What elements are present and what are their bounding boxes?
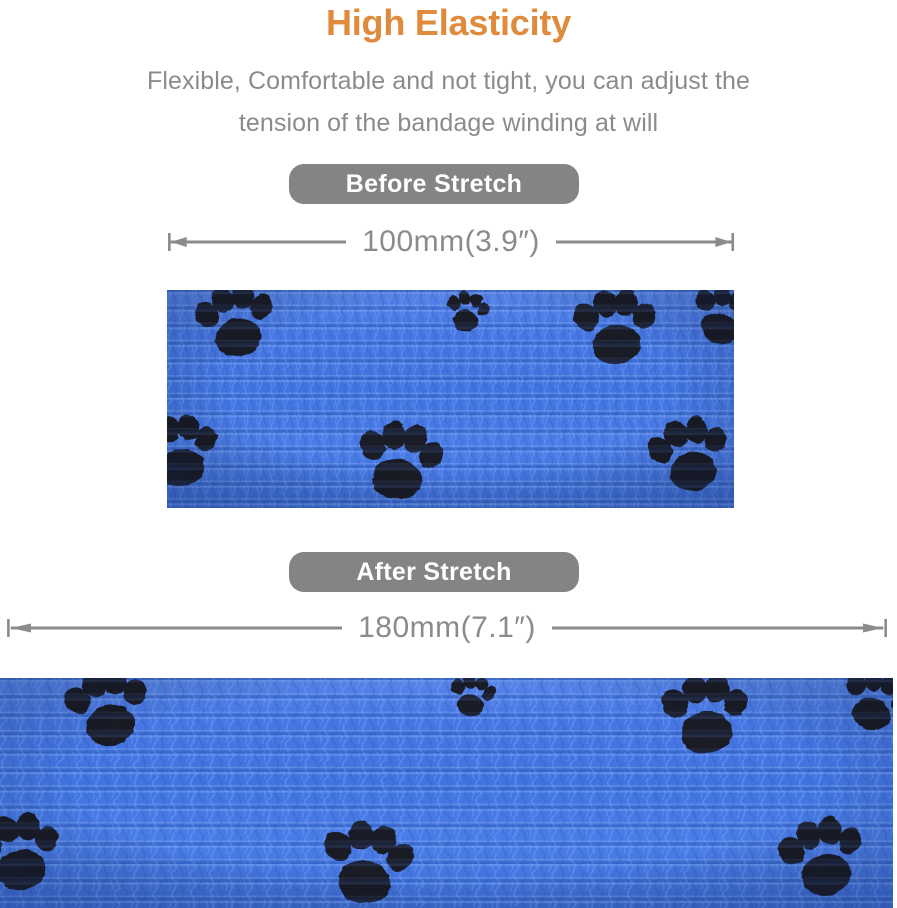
- page-subtitle: Flexible, Comfortable and not tight, you…: [0, 60, 897, 144]
- dimension-after-stretch: 180mm(7.1″): [4, 606, 890, 650]
- subtitle-line-2: tension of the bandage winding at will: [0, 102, 897, 144]
- dimension-label-before: 100mm(3.9″): [346, 227, 556, 257]
- dimension-arrow-left-before: [167, 232, 346, 252]
- badge-before-stretch: Before Stretch: [289, 164, 579, 204]
- dimension-label-after: 180mm(7.1″): [342, 613, 552, 643]
- dimension-arrow-right-before: [556, 232, 735, 252]
- badge-after-stretch: After Stretch: [289, 552, 579, 592]
- dimension-arrow-right-after: [552, 618, 890, 638]
- subtitle-line-1: Flexible, Comfortable and not tight, you…: [0, 60, 897, 102]
- bandage-texture-after: [0, 678, 893, 908]
- bandage-texture-before: [167, 290, 734, 508]
- bandage-swatch-after-stretch: [0, 678, 893, 908]
- infographic-page: High Elasticity Flexible, Comfortable an…: [0, 0, 897, 908]
- dimension-before-stretch: 100mm(3.9″): [167, 220, 735, 264]
- dimension-arrow-left-after: [4, 618, 342, 638]
- bandage-swatch-before-stretch: [167, 290, 734, 508]
- page-title: High Elasticity: [0, 2, 897, 44]
